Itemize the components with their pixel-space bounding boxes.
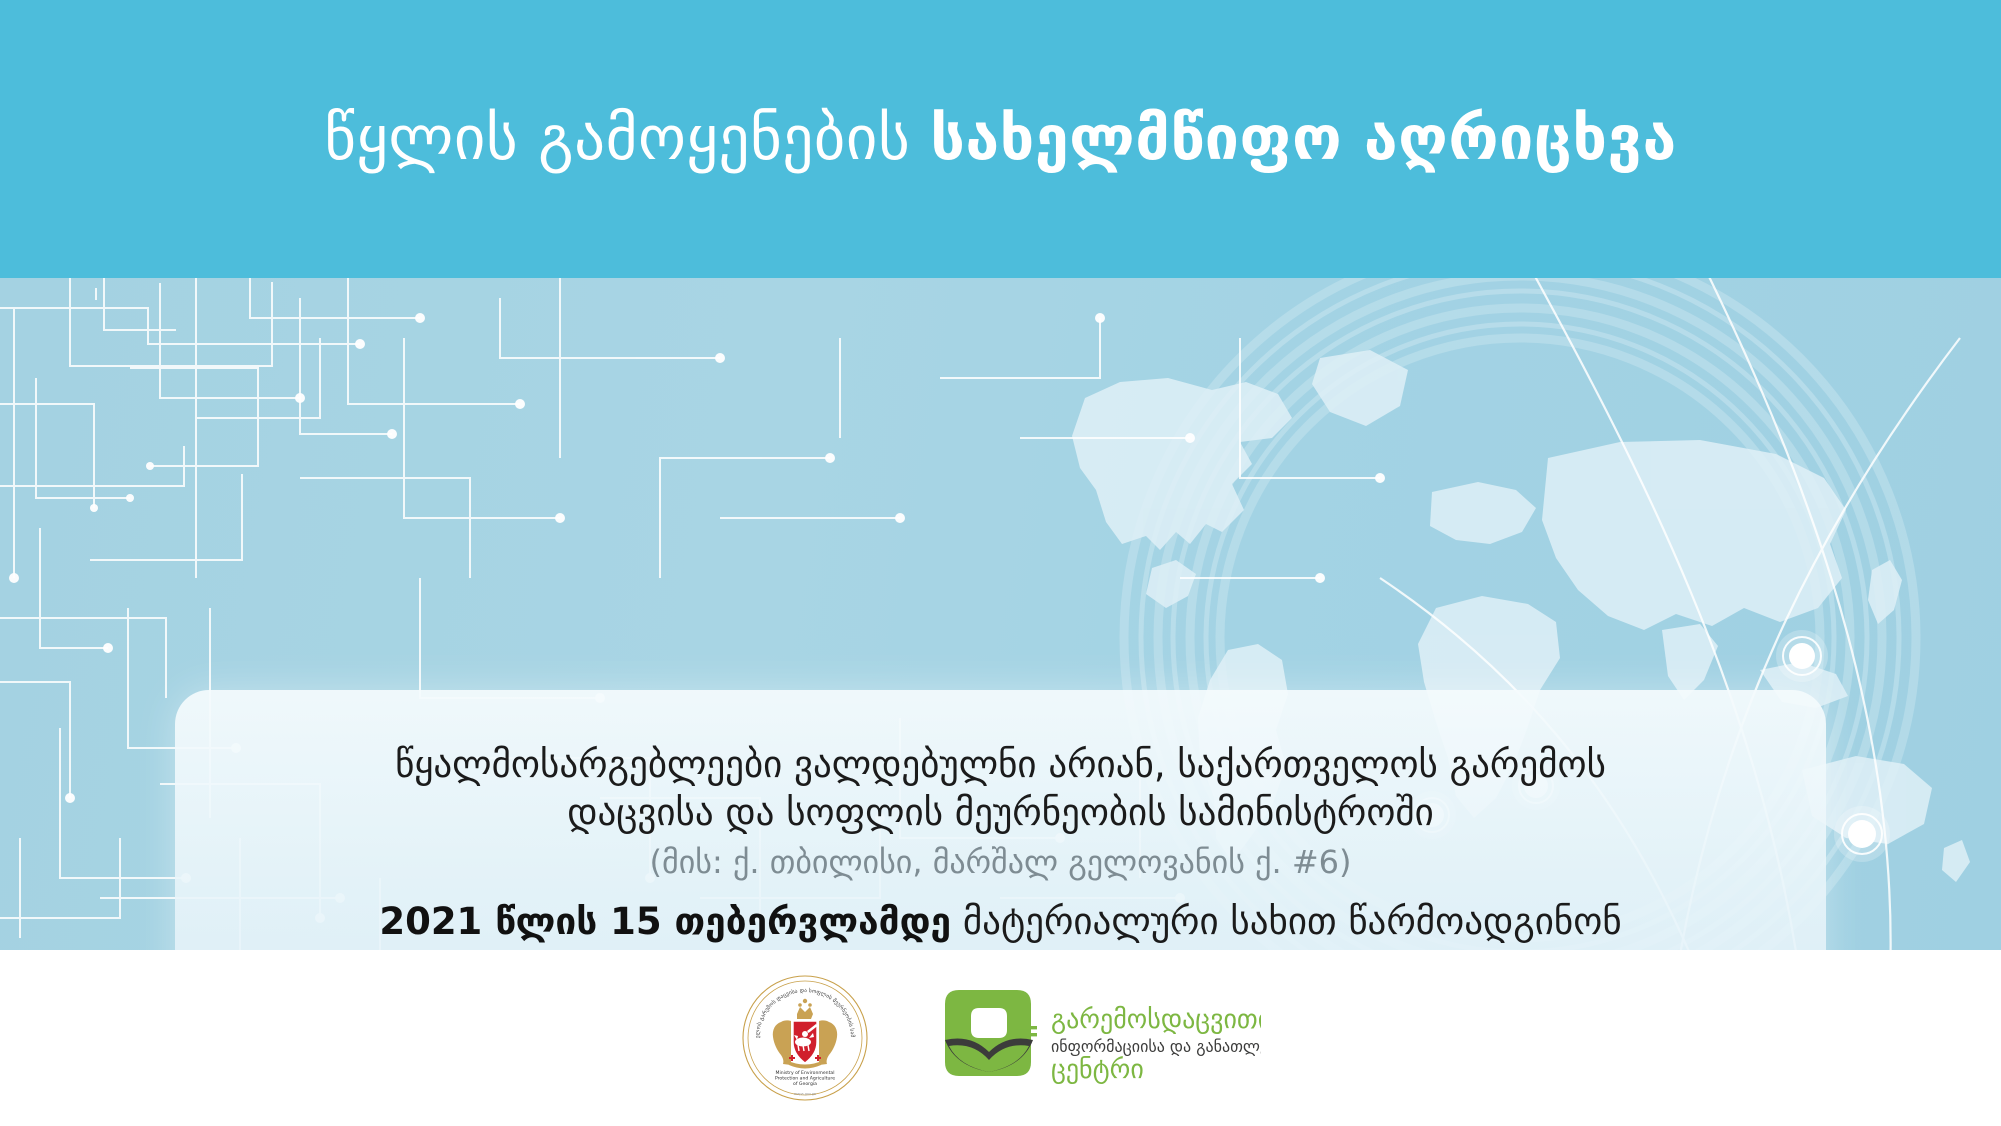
ministry-of-environment-logo: საქართველოს გარემოს დაცვისა და სოფლის მე… [741,974,869,1102]
eiec-text-line3: ცენტრი [1051,1055,1144,1085]
header-bar: წყლის გამოყენების სახელმწიფო აღრიცხვა [0,0,2001,278]
footer-logo-bar: საქართველოს გარემოს დაცვისა და სოფლის მე… [0,950,2001,1126]
page-title-light: წყლის გამოყენების [324,103,930,174]
environmental-information-centre-logo: გარემოსდაცვითი ინფორმაციისა და განათლები… [931,982,1261,1094]
deadline-date: 2021 წლის 15 თებერვლამდე [379,900,951,943]
card-line-2: დაცვისა და სოფლის მეურნეობის სამინისტროშ… [567,789,1434,837]
card-address: (მის: ქ. თბილისი, მარშალ გელოვანის ქ. #6… [650,842,1352,884]
eiec-text-line1: გარემოსდაცვითი [1051,1005,1261,1035]
card-line-1: წყალმოსარგებლეები ვალდებულნი არიან, საქა… [395,741,1606,789]
ministry-caption-line2: Protection and Agriculture [774,1076,834,1082]
content-card: წყალმოსარგებლეები ვალდებულნი არიან, საქა… [175,690,1826,950]
eiec-mark-icon [945,990,1037,1076]
page-title: წყლის გამოყენების სახელმწიფო აღრიცხვა [324,105,1676,172]
deadline-text: მატერიალური სახით წარმოადგინონ [951,900,1622,943]
ministry-url: mepa.gov.ge [794,1092,816,1096]
eiec-text-line2: ინფორმაციისა და განათლების [1051,1037,1261,1056]
page-title-bold: სახელმწიფო აღრიცხვა [930,103,1677,174]
card-deadline: 2021 წლის 15 თებერვლამდე მატერიალური სახ… [379,898,1621,946]
decorative-band: წყალმოსარგებლეები ვალდებულნი არიან, საქა… [0,278,2001,950]
ministry-caption-line1: Ministry of Environmental [775,1070,834,1076]
poster-canvas: წყლის გამოყენების სახელმწიფო აღრიცხვა [0,0,2001,1126]
ministry-caption-line3: of Georgia [793,1081,817,1087]
